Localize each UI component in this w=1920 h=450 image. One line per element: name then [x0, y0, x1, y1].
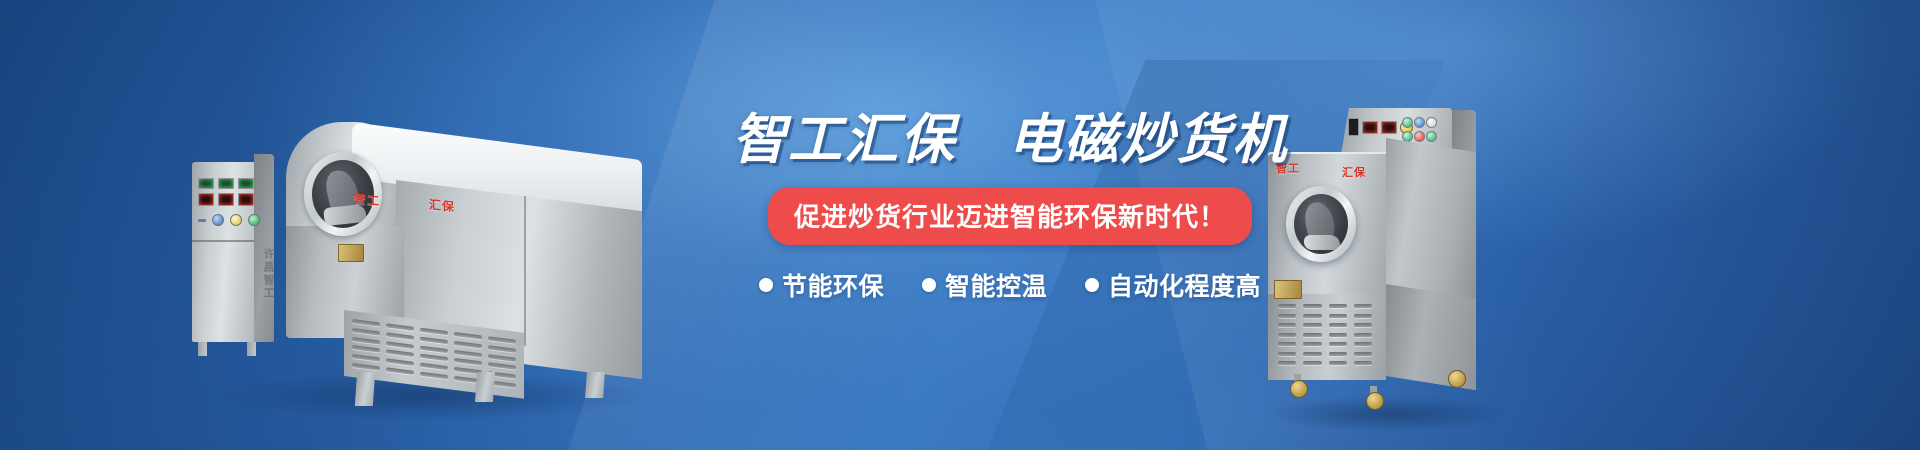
vent-slot-icon [352, 337, 380, 345]
display-readout-icon [218, 193, 234, 206]
indicator-light-icon [198, 178, 214, 189]
vent-slot-icon [1278, 304, 1296, 308]
caster-wheel-icon [1290, 380, 1308, 398]
button-icon [1414, 117, 1425, 128]
vent-slot-icon [352, 328, 380, 336]
vent-slot-icon [1354, 304, 1372, 308]
feature-label: 自动化程度高 [1108, 267, 1261, 303]
drum-paddle-icon [323, 204, 367, 226]
vent-slot-icon [454, 358, 482, 366]
vent-slot-icon [1303, 304, 1321, 308]
vent-slot-icon [386, 350, 414, 358]
vent-slot-icon [488, 363, 516, 371]
caster-wheel-icon [1366, 392, 1384, 410]
left-control-cabinet: 许昌智工 [192, 162, 274, 342]
vent-slot-icon [1278, 352, 1296, 356]
vent-slot-icon [1303, 314, 1321, 318]
vent-slot-icon [454, 332, 482, 340]
cabinet-front-panel [192, 162, 254, 342]
cabinet-feet [196, 342, 258, 356]
display-readout-icon [198, 193, 214, 206]
right-machine-brand-right: 汇保 [1342, 168, 1366, 179]
vent-slot-icon [454, 341, 482, 349]
left-machine-brand-right: 汇保 [429, 199, 455, 214]
vent-slot-icon [1278, 361, 1296, 365]
cabinet-indicator-lights [198, 178, 254, 189]
vent-slot-icon [1329, 304, 1347, 308]
vent-slot-icon [1303, 342, 1321, 346]
leg-icon [585, 372, 605, 398]
feature-label: 节能环保 [782, 267, 884, 303]
temperature-display-icon [1362, 121, 1378, 134]
indicator-light-icon [218, 178, 234, 189]
leg-icon [355, 372, 375, 406]
vent-slot-icon [352, 363, 380, 371]
vent-slot-icon [1354, 342, 1372, 346]
vent-slot-icon [420, 354, 448, 362]
right-panel-buttons [1402, 117, 1435, 142]
roaster-door-seam [524, 196, 526, 346]
feature-item-automation: 自动化程度高 [1085, 267, 1261, 303]
headline-product: 电磁炒货机 [1008, 110, 1288, 170]
vent-slot-icon [1329, 342, 1347, 346]
vent-slot-icon [1354, 314, 1372, 318]
cabinet-control-knobs [198, 214, 260, 226]
feature-label: 智能控温 [945, 267, 1047, 303]
left-machine-brand-left: 智工 [354, 193, 380, 208]
cabinet-vertical-brand-text: 许昌智工 [255, 248, 273, 300]
vent-slot-icon [1329, 333, 1347, 337]
emergency-stop-icon [230, 214, 242, 226]
promo-banner: 许昌智工 智工 汇保 [0, 0, 1920, 450]
caster-wheel-icon [1448, 370, 1466, 388]
display-readout-icon [238, 193, 254, 206]
vent-slot-icon [386, 359, 414, 367]
button-icon [1402, 117, 1413, 128]
left-machine-image: 许昌智工 智工 汇保 [190, 104, 660, 404]
bullet-dot-icon [1085, 278, 1099, 292]
button-icon [1426, 131, 1437, 142]
vent-slot-icon [386, 341, 414, 349]
vent-slot-icon [386, 323, 414, 331]
left-roaster-body: 智工 汇保 [286, 122, 642, 372]
vent-slot-icon [1278, 342, 1296, 346]
bullet-dot-icon [759, 278, 773, 292]
roaster-spec-plate [338, 244, 364, 262]
vent-slot-icon [1303, 352, 1321, 356]
vent-slot-icon [1354, 361, 1372, 365]
button-icon [1414, 131, 1425, 142]
cabinet-digital-displays [198, 193, 254, 206]
vent-slot-icon [420, 328, 448, 336]
panel-screen-icon [1348, 118, 1359, 136]
feature-item-smart-temperature: 智能控温 [922, 267, 1047, 303]
banner-headline: 智工汇保 电磁炒货机 [700, 112, 1320, 169]
timer-display-icon [1381, 121, 1397, 134]
button-icon [1426, 117, 1437, 128]
headline-brand: 智工汇保 [732, 110, 956, 170]
banner-subtitle-wrap: 促进炒货行业迈进智能环保新时代！ [700, 187, 1320, 245]
vent-slot-icon [352, 354, 380, 362]
vent-slot-icon [1354, 333, 1372, 337]
right-lower-vent-panel [1268, 294, 1386, 380]
banner-copy-block: 智工汇保 电磁炒货机 促进炒货行业迈进智能环保新时代！ 节能环保 智能控温 自动… [700, 112, 1320, 303]
vent-slot-icon [1329, 361, 1347, 365]
vent-slot-icon [1329, 352, 1347, 356]
roaster-legs [350, 372, 640, 406]
vent-slot-icon [488, 345, 516, 353]
right-vent-slots [1278, 304, 1372, 368]
vent-slot-icon [386, 332, 414, 340]
vent-slot-icon [1303, 323, 1321, 327]
vent-slot-icon [352, 319, 380, 327]
bullet-dot-icon [922, 278, 936, 292]
vent-slot-icon [1278, 314, 1296, 318]
banner-feature-list: 节能环保 智能控温 自动化程度高 [700, 267, 1320, 303]
vent-slot-icon [1303, 361, 1321, 365]
knob-icon [212, 214, 224, 226]
start-button-icon [248, 214, 260, 226]
vent-slot-icon [420, 363, 448, 371]
vent-slot-icon [1354, 323, 1372, 327]
vent-slot-icon [488, 336, 516, 344]
feature-item-energy-saving: 节能环保 [759, 267, 884, 303]
vent-slot-icon [488, 354, 516, 362]
leg-icon [475, 372, 495, 402]
vent-slot-icon [1354, 352, 1372, 356]
vent-slot-icon [1329, 323, 1347, 327]
vent-slot-icon [420, 336, 448, 344]
vent-slot-icon [1278, 333, 1296, 337]
vent-slot-icon [1329, 314, 1347, 318]
vent-slot-icon [454, 350, 482, 358]
vent-slot-icon [1278, 323, 1296, 327]
vent-slot-icon [352, 345, 380, 353]
knob-label-icon [198, 219, 206, 222]
vent-slot-icon [1303, 333, 1321, 337]
vent-slot-icon [420, 345, 448, 353]
cabinet-door-seam [192, 240, 254, 242]
banner-subtitle-pill: 促进炒货行业迈进智能环保新时代！ [768, 187, 1252, 245]
indicator-light-icon [238, 178, 254, 189]
